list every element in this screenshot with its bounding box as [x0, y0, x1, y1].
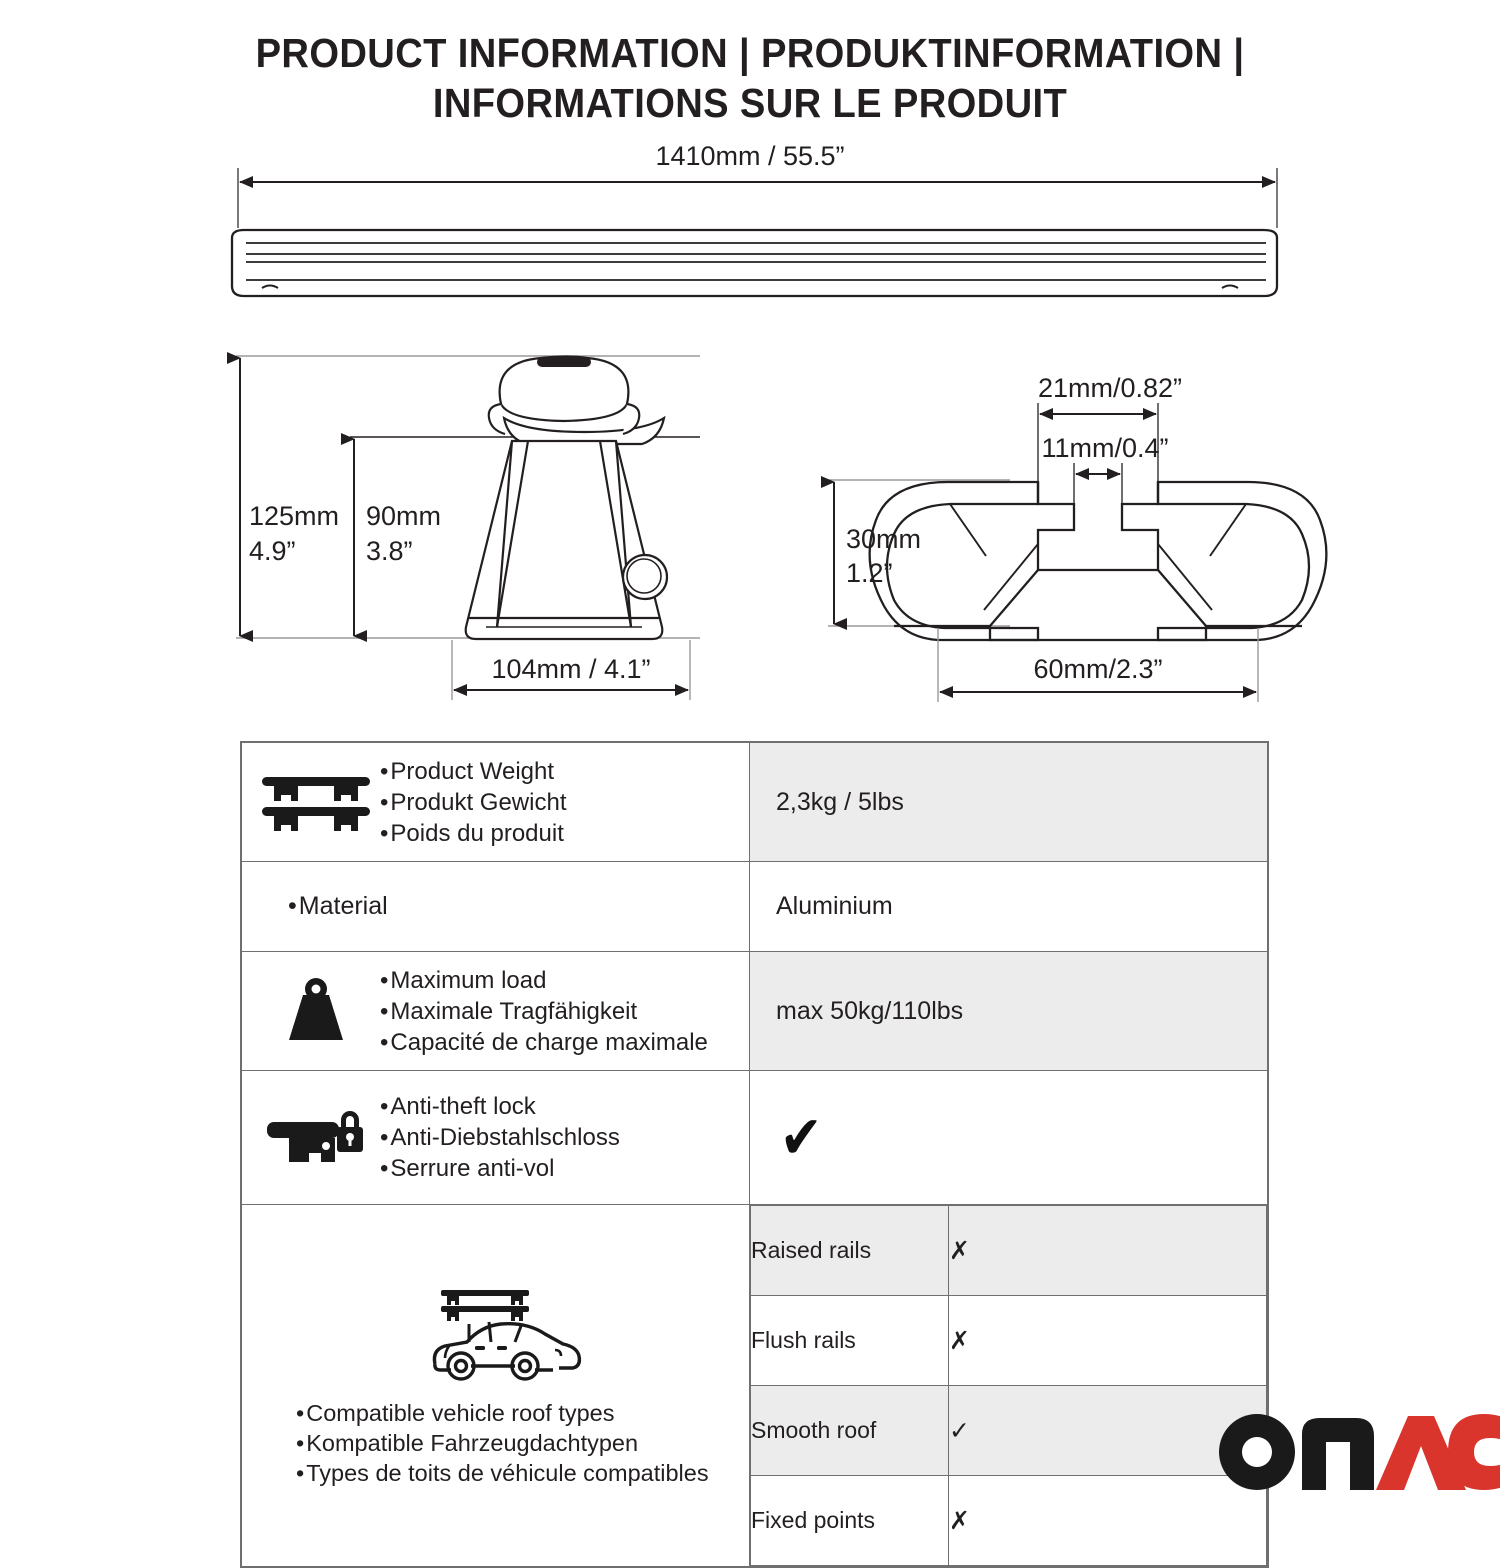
- profile-cross-section: 21mm/0.82” 11mm/0.4” 30mm 1.2”: [828, 373, 1326, 702]
- table-row-weight: Product Weight Produkt Gewicht Poids du …: [241, 742, 1268, 862]
- table-row-material: Material Aluminium: [241, 862, 1268, 952]
- bar-lock-icon: [256, 1105, 376, 1171]
- crossbars-icon: [256, 771, 376, 833]
- max-load-label-de: Maximale Tragfähigkeit: [380, 996, 741, 1027]
- roof-mark-raised-rails: ✗: [949, 1206, 1267, 1296]
- lock-label-fr: Serrure anti-vol: [380, 1153, 741, 1184]
- roof-name-raised-rails: Raised rails: [751, 1206, 949, 1296]
- weight-label-fr: Poids du produit: [380, 818, 741, 849]
- max-load-label-cell: Maximum load Maximale Tragfähigkeit Capa…: [241, 952, 750, 1071]
- material-value-cell: Aluminium: [750, 862, 1269, 952]
- table-row-lock: Anti-theft lock Anti-Diebstahlschloss Se…: [241, 1071, 1268, 1205]
- profile-width-label: 60mm/2.3”: [1033, 654, 1162, 684]
- roof-types-label-de: Kompatible Fahrzeugdachtypen: [296, 1428, 739, 1458]
- slot-inner-label: 11mm/0.4”: [1041, 433, 1168, 463]
- crossbar-side-view: [232, 230, 1277, 296]
- max-load-value-cell: max 50kg/110lbs: [750, 952, 1269, 1071]
- roof-row-smooth-roof: Smooth roof ✓: [751, 1386, 1267, 1476]
- roof-mark-flush-rails: ✗: [949, 1296, 1267, 1386]
- foot-clear-height-in: 3.8”: [366, 536, 413, 566]
- weight-labels: Product Weight Produkt Gewicht Poids du …: [380, 756, 741, 849]
- lock-labels: Anti-theft lock Anti-Diebstahlschloss Se…: [380, 1091, 741, 1184]
- slot-outer-label: 21mm/0.82”: [1038, 373, 1182, 403]
- max-load-label-en: Maximum load: [380, 965, 741, 996]
- foot-total-height-in: 4.9”: [249, 536, 296, 566]
- roof-name-fixed-points: Fixed points: [751, 1476, 949, 1566]
- max-load-label-fr: Capacité de charge maximale: [380, 1027, 741, 1058]
- technical-drawings: 1410mm / 55.5” 125mm 4.9” 90mm 3.8”: [0, 0, 1500, 740]
- roof-name-flush-rails: Flush rails: [751, 1296, 949, 1386]
- lock-label-de: Anti-Diebstahlschloss: [380, 1122, 741, 1153]
- logo-letter-m: [1302, 1418, 1374, 1490]
- omac-logo: [1216, 1412, 1500, 1492]
- foot-clear-height-mm: 90mm: [366, 501, 441, 531]
- max-load-labels: Maximum load Maximale Tragfähigkeit Capa…: [380, 965, 741, 1058]
- foot-total-height-mm: 125mm: [249, 501, 339, 531]
- roof-row-flush-rails: Flush rails ✗: [751, 1296, 1267, 1386]
- bar-length-dimension: 1410mm / 55.5”: [238, 141, 1277, 228]
- product-spec-table: Product Weight Produkt Gewicht Poids du …: [240, 741, 1269, 1568]
- weight-label-cell: Product Weight Produkt Gewicht Poids du …: [241, 742, 750, 862]
- lock-value-cell: ✔: [750, 1071, 1269, 1205]
- foot-front-view: 125mm 4.9” 90mm 3.8”: [236, 356, 700, 700]
- roof-types-labels: Compatible vehicle roof types Kompatible…: [258, 1398, 739, 1488]
- table-row-roof-types: Compatible vehicle roof types Kompatible…: [241, 1205, 1268, 1568]
- logo-letter-c: [1448, 1414, 1500, 1490]
- car-with-rack-icon: [258, 1280, 739, 1392]
- lock-label-en: Anti-theft lock: [380, 1091, 741, 1122]
- weight-value-cell: 2,3kg / 5lbs: [750, 742, 1269, 862]
- bar-length-label: 1410mm / 55.5”: [655, 141, 844, 171]
- lock-checkmark: ✔: [780, 1108, 823, 1168]
- table-row-max-load: Maximum load Maximale Tragfähigkeit Capa…: [241, 952, 1268, 1071]
- logo-letter-o: [1219, 1414, 1295, 1490]
- weight-label-de: Produkt Gewicht: [380, 787, 741, 818]
- roof-types-label-en: Compatible vehicle roof types: [296, 1398, 739, 1428]
- roof-name-smooth-roof: Smooth roof: [751, 1386, 949, 1476]
- foot-width-label: 104mm / 4.1”: [491, 654, 650, 684]
- material-label: Material: [288, 892, 741, 921]
- roof-type-list: Raised rails ✗ Flush rails ✗: [750, 1205, 1267, 1566]
- profile-height-mm: 30mm: [846, 524, 921, 554]
- material-label-cell: Material: [241, 862, 750, 952]
- weight-icon: [256, 978, 376, 1044]
- roof-types-value-cell: Raised rails ✗ Flush rails ✗: [750, 1205, 1269, 1568]
- weight-label-en: Product Weight: [380, 756, 741, 787]
- roof-row-fixed-points: Fixed points ✗: [751, 1476, 1267, 1566]
- roof-types-label-cell: Compatible vehicle roof types Kompatible…: [241, 1205, 750, 1568]
- roof-types-label-fr: Types de toits de véhicule compatibles: [296, 1458, 739, 1488]
- lock-label-cell: Anti-theft lock Anti-Diebstahlschloss Se…: [241, 1071, 750, 1205]
- roof-row-raised-rails: Raised rails ✗: [751, 1206, 1267, 1296]
